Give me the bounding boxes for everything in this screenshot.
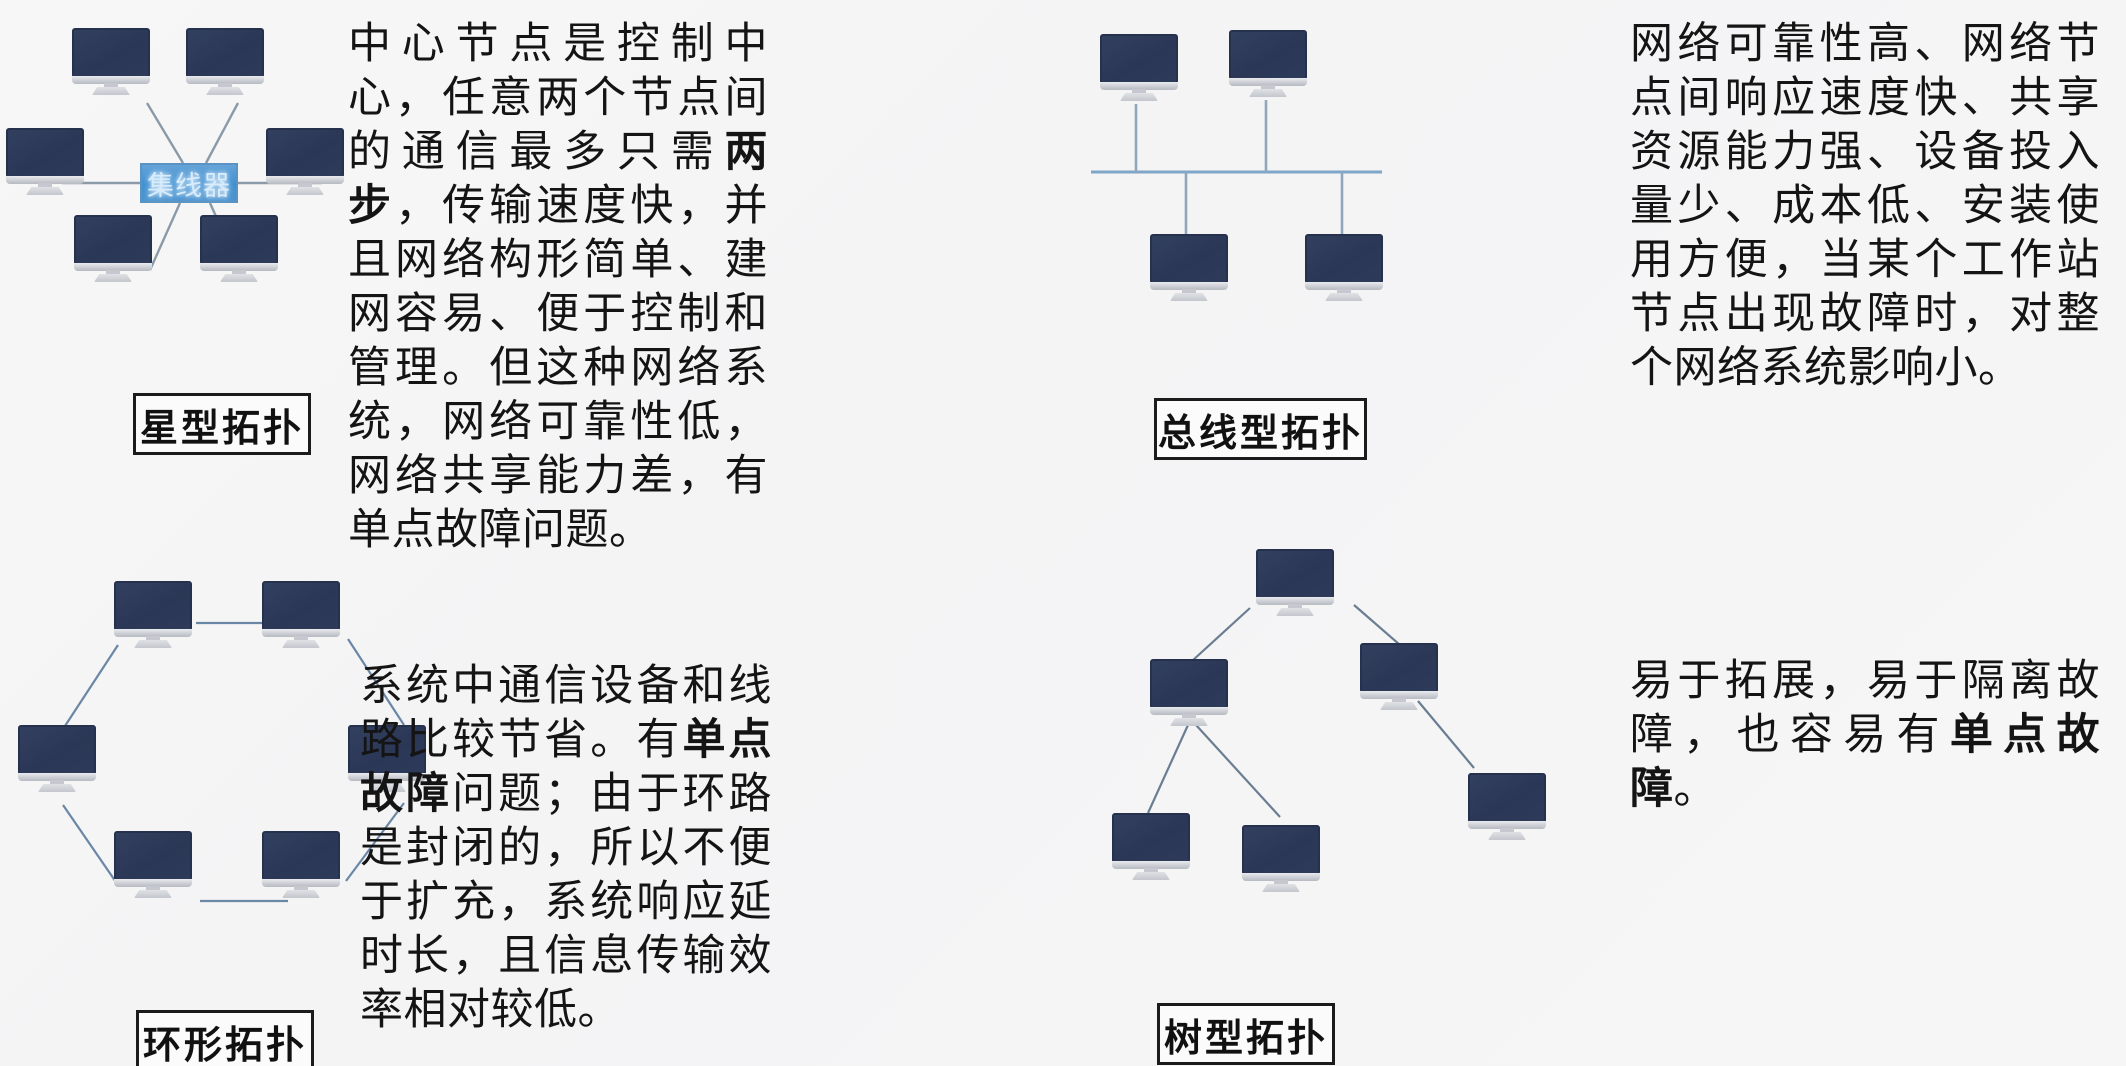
monitor-screen <box>262 581 340 631</box>
network-topology-infographic: 集线器 星型拓扑 中心节点是控制中心，任意两个节点间的通信最多只需两步，传输速度… <box>0 0 2126 1066</box>
tree-topology-description: 易于拓展，易于隔离故障，也容易有单点故障。 <box>1630 655 2100 817</box>
bus-topology-panel: 总线型拓扑 <box>1070 0 1540 533</box>
monitor-screen <box>74 215 152 265</box>
monitor-screen <box>114 831 192 881</box>
caption-star-topology: 星型拓扑 <box>133 393 311 455</box>
monitor-screen <box>1112 813 1190 863</box>
monitor-base <box>1170 293 1208 301</box>
monitor-base <box>1170 718 1208 726</box>
monitor-base <box>206 87 244 95</box>
monitor-base <box>282 640 320 648</box>
bus-description-text: 网络可靠性高、网络节点间响应速度快、共享资源能力强、设备投入量少、成本低、安装使… <box>1630 18 2100 396</box>
monitor-screen <box>1242 825 1320 875</box>
computer-node <box>1360 643 1438 709</box>
star-description-text: 中心节点是控制中心，任意两个节点间的通信最多只需两步，传输速度快，并且网络构形简… <box>348 18 768 558</box>
monitor-screen <box>1229 30 1307 80</box>
monitor-base <box>1380 702 1418 710</box>
monitor-base <box>26 187 64 195</box>
monitor-base <box>1276 608 1314 616</box>
bus-topology-description: 网络可靠性高、网络节点间响应速度快、共享资源能力强、设备投入量少、成本低、安装使… <box>1630 18 2100 396</box>
computer-node <box>1256 549 1334 615</box>
computer-node <box>1150 234 1228 300</box>
computer-node <box>6 128 84 194</box>
computer-node <box>262 581 340 647</box>
monitor-screen <box>1150 659 1228 709</box>
tree-topology-panel <box>1070 533 1540 1066</box>
monitor-screen <box>186 28 264 78</box>
monitor-base <box>134 640 172 648</box>
computer-node <box>1242 825 1320 891</box>
monitor-screen <box>262 831 340 881</box>
computer-node <box>1229 30 1307 96</box>
monitor-screen <box>114 581 192 631</box>
monitor-base <box>1488 832 1526 840</box>
monitor-base <box>286 187 324 195</box>
computer-node <box>18 725 96 791</box>
caption-text: 星型拓扑 <box>140 397 304 452</box>
caption-tree-topology: 树型拓扑 <box>1157 1003 1335 1065</box>
monitor-base <box>1325 293 1363 301</box>
computer-node <box>1100 34 1178 100</box>
tree-topology-diagram <box>1070 533 1540 1066</box>
caption-text: 环形拓扑 <box>143 1014 307 1066</box>
ring-description-text: 系统中通信设备和线路比较节省。有单点故障问题；由于环路是封闭的，所以不便于扩充，… <box>360 660 772 1038</box>
monitor-screen <box>1468 773 1546 823</box>
monitor-screen <box>1256 549 1334 599</box>
monitor-screen <box>1360 643 1438 693</box>
monitor-screen <box>6 128 84 178</box>
computer-node <box>186 28 264 94</box>
monitor-base <box>1249 89 1287 97</box>
computer-node <box>1150 659 1228 725</box>
computer-node <box>114 581 192 647</box>
computer-node <box>1468 773 1546 839</box>
monitor-screen <box>200 215 278 265</box>
computer-node <box>262 831 340 897</box>
monitor-base <box>282 890 320 898</box>
monitor-screen <box>72 28 150 78</box>
monitor-base <box>92 87 130 95</box>
monitor-base <box>1262 884 1300 892</box>
monitor-screen <box>1150 234 1228 284</box>
monitor-screen <box>1100 34 1178 84</box>
computer-node <box>72 28 150 94</box>
monitor-screen <box>266 128 344 178</box>
monitor-base <box>220 274 258 282</box>
computer-node <box>266 128 344 194</box>
monitor-base <box>94 274 132 282</box>
computer-node <box>1305 234 1383 300</box>
monitor-screen <box>18 725 96 775</box>
monitor-base <box>134 890 172 898</box>
hub-node: 集线器 <box>140 163 238 203</box>
computer-node <box>114 831 192 897</box>
caption-bus-topology: 总线型拓扑 <box>1154 398 1367 460</box>
star-topology-description: 中心节点是控制中心，任意两个节点间的通信最多只需两步，传输速度快，并且网络构形简… <box>348 18 768 558</box>
monitor-base <box>1132 872 1170 880</box>
caption-text: 树型拓扑 <box>1164 1007 1328 1062</box>
computer-node <box>200 215 278 281</box>
monitor-screen <box>1305 234 1383 284</box>
tree-description-text: 易于拓展，易于隔离故障，也容易有单点故障。 <box>1630 655 2100 817</box>
monitor-base <box>1120 93 1158 101</box>
ring-topology-description: 系统中通信设备和线路比较节省。有单点故障问题；由于环路是封闭的，所以不便于扩充，… <box>360 660 772 1038</box>
caption-ring-topology: 环形拓扑 <box>136 1010 314 1066</box>
monitor-base <box>38 784 76 792</box>
caption-text: 总线型拓扑 <box>1158 402 1363 457</box>
computer-node <box>1112 813 1190 879</box>
hub-label: 集线器 <box>147 164 231 203</box>
computer-node <box>74 215 152 281</box>
